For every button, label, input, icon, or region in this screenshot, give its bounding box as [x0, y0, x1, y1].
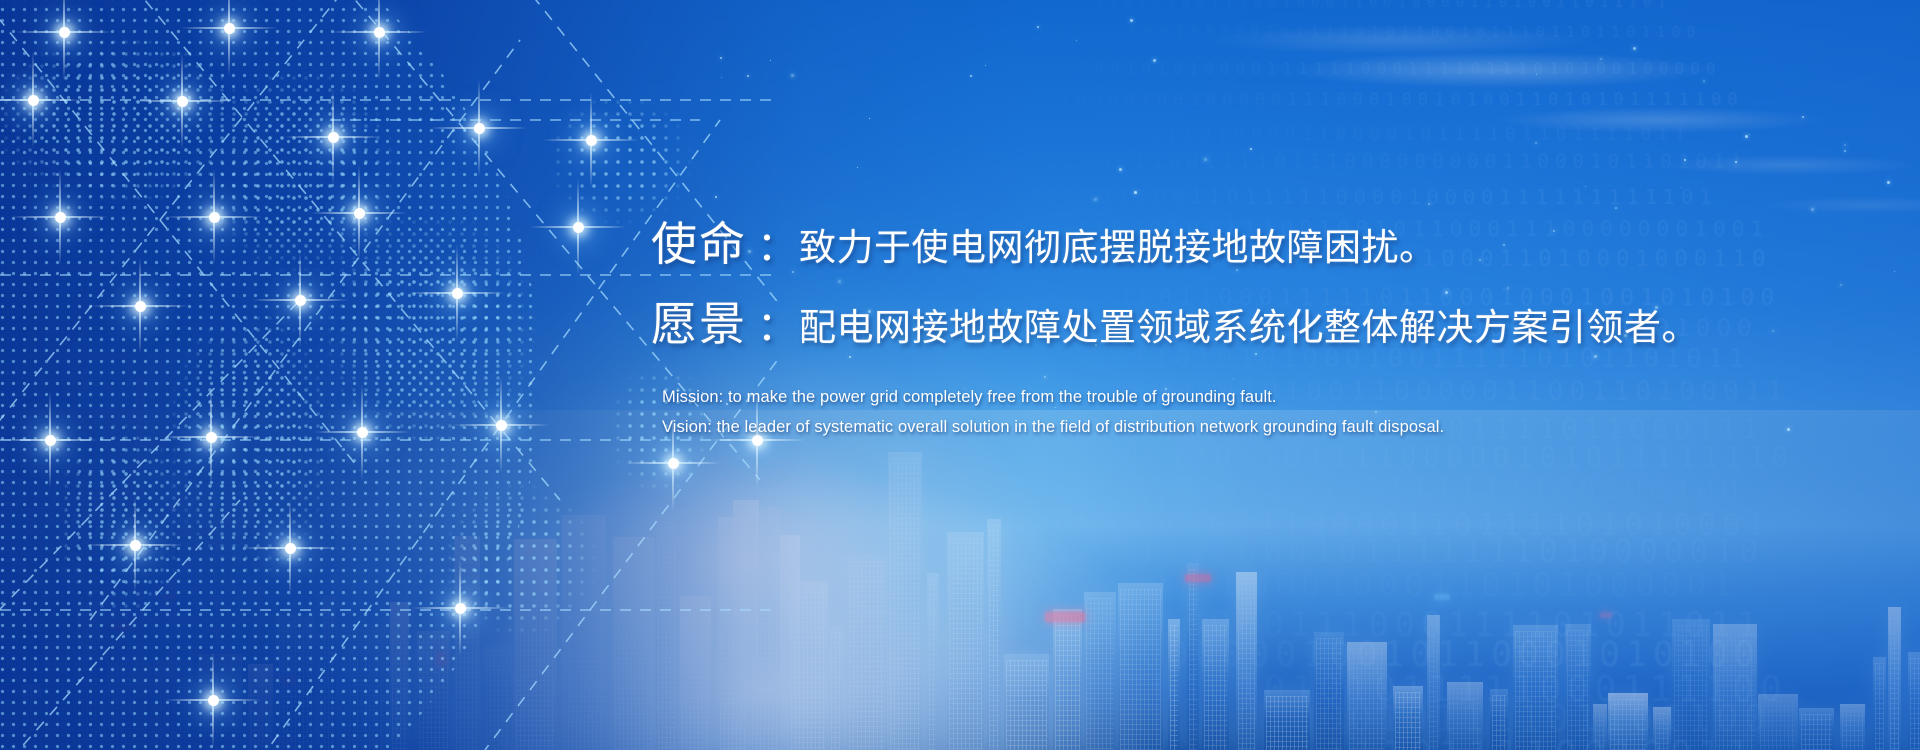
sky-speck [1633, 47, 1636, 50]
subline-mission-en: Mission: to make the power grid complete… [662, 388, 1881, 407]
hero-banner: 1110111101010011100100011001000011010011… [0, 0, 1920, 750]
headline-mission: 使命：致力于使电网彻底摆脱接地故障困扰。 [651, 208, 1881, 274]
sky-speck [1250, 148, 1252, 150]
headline-mission-colon: ： [747, 225, 799, 269]
sky-speck [1844, 150, 1846, 152]
subline-vision-en: Vision: the leader of systematic overall… [662, 418, 1881, 437]
sky-speck [715, 196, 717, 198]
sky-speck [985, 65, 986, 66]
sky-speck [721, 77, 722, 78]
headline-vision-body: 配电网接地故障处置领域系统化整体解决方案引领者。 [799, 307, 1699, 348]
sky-speck [791, 74, 794, 77]
mission-vision-copy: 使命：致力于使电网彻底摆脱接地故障困扰。 愿景：配电网接地故障处置领域系统化整体… [651, 208, 1881, 448]
sky-speck [1134, 191, 1137, 194]
headline-vision-colon: ： [747, 305, 799, 349]
sky-speck [1204, 158, 1207, 161]
headline-mission-lead: 使命 [651, 218, 747, 270]
sky-speck [770, 60, 771, 61]
sky-speck [1703, 80, 1705, 82]
headline-vision-lead: 愿景 [651, 298, 747, 350]
sky-speck [1153, 59, 1156, 62]
sky-speck [970, 75, 972, 77]
headline-vision: 愿景：配电网接地故障处置领域系统化整体解决方案引领者。 [651, 288, 1881, 354]
sky-speck [1094, 198, 1097, 201]
headline-mission-body: 致力于使电网彻底摆脱接地故障困扰。 [799, 227, 1437, 268]
sky-speck [1428, 203, 1430, 205]
